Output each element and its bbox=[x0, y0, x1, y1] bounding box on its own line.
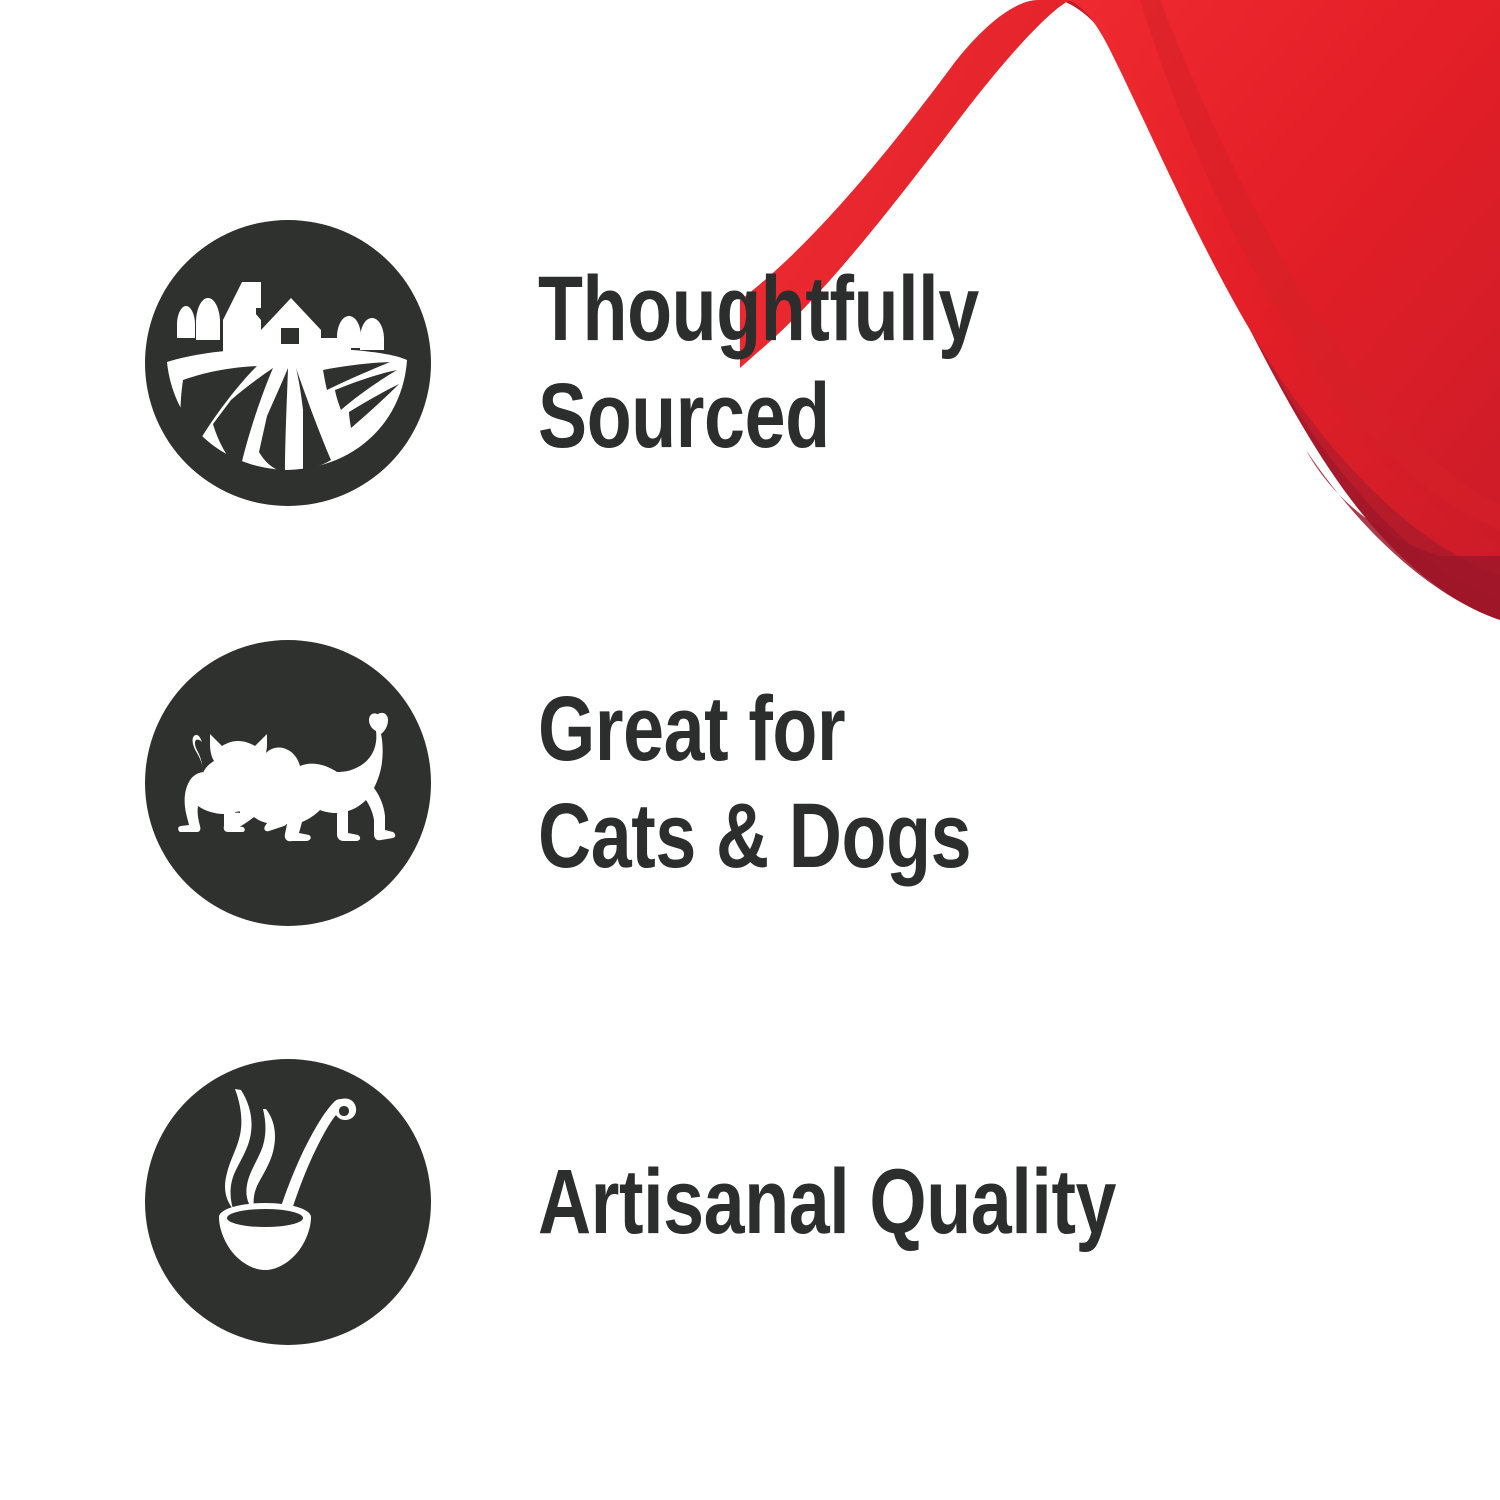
feature-callout-panel: Thoughtfully Sourced Great for Cats & Do… bbox=[0, 0, 1500, 1500]
cat-and-dog-icon bbox=[145, 640, 431, 926]
feature-row: Artisanal Quality bbox=[0, 1057, 1500, 1347]
farm-house-field-icon bbox=[145, 220, 431, 506]
feature-row: Great for Cats & Dogs bbox=[0, 638, 1500, 928]
feature-label: Artisanal Quality bbox=[538, 1149, 1116, 1256]
feature-row: Thoughtfully Sourced bbox=[0, 218, 1500, 508]
feature-label: Great for Cats & Dogs bbox=[538, 676, 971, 889]
steaming-ladle-icon bbox=[145, 1059, 431, 1345]
feature-label: Thoughtfully Sourced bbox=[538, 256, 979, 469]
